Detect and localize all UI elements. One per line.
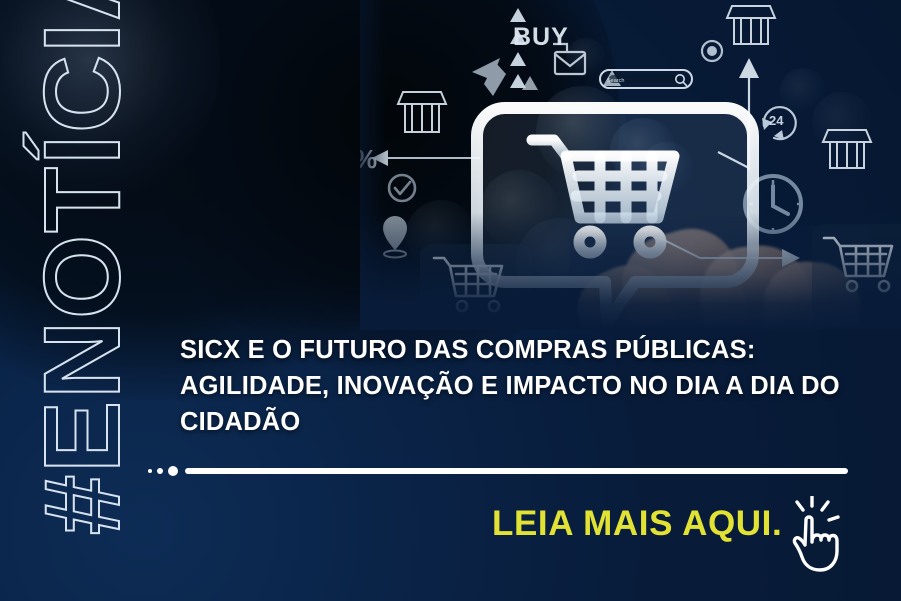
- background-sheen: [0, 0, 220, 210]
- read-more-label: LEIA MAIS AQUI.: [492, 506, 782, 541]
- divider-dot-medium: [157, 468, 163, 474]
- banner-canvas: BUY: [0, 0, 901, 601]
- read-more-link[interactable]: LEIA MAIS AQUI.: [492, 506, 782, 541]
- storefront-icon: [823, 130, 871, 168]
- divider-dot-large: [168, 466, 178, 476]
- page-title: SICX E O FUTURO DAS COMPRAS PÚBLICAS: AG…: [180, 332, 852, 441]
- vertical-brand-label: #ENOTÍCIA: [28, 0, 136, 553]
- badge-24h-label: 24: [769, 113, 784, 128]
- left-arrow-icon: [372, 150, 480, 166]
- click-hand-icon[interactable]: [779, 496, 845, 576]
- hero-icon-overlay: BUY: [360, 0, 901, 330]
- divider: [148, 464, 848, 478]
- hero-image: BUY: [360, 0, 901, 330]
- divider-dot-small: [148, 469, 152, 473]
- percent-icon: %: [360, 144, 377, 174]
- divider-line: [185, 468, 848, 474]
- search-placeholder-label: Search: [607, 78, 624, 84]
- storefront-icon: [727, 6, 775, 44]
- location-pin-icon: [383, 216, 407, 258]
- check-circle-icon: [389, 175, 415, 201]
- up-arrow-icon: [472, 58, 506, 96]
- record-circle-icon: [702, 41, 722, 61]
- vertical-brand-tag: #ENOTÍCIA: [7, 0, 157, 553]
- storefront-icon: [398, 92, 446, 132]
